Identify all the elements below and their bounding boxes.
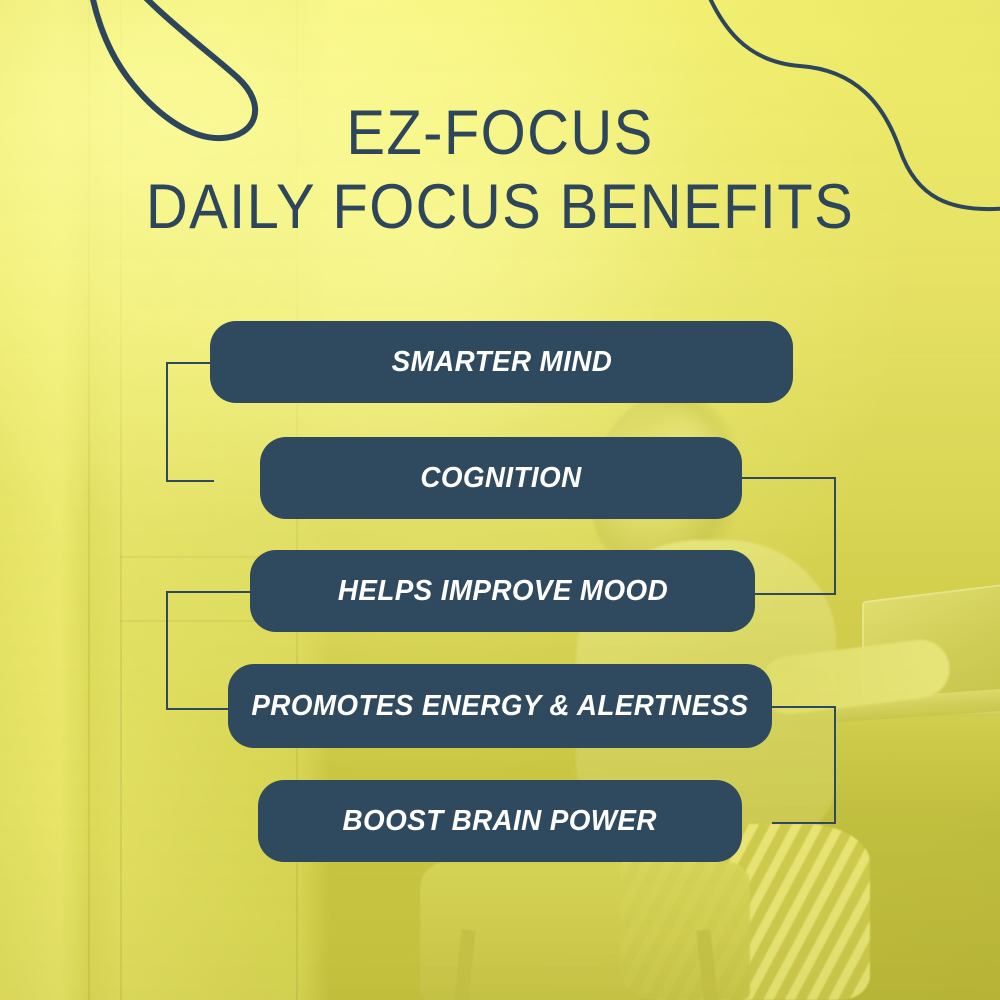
headline: DAILY FOCUS BENEFITS	[40, 170, 960, 244]
benefit-label: HELPS IMPROVE MOOD	[337, 575, 667, 608]
benefit-label: SMARTER MIND	[391, 346, 612, 379]
benefit-pill-3[interactable]: HELPS IMPROVE MOOD	[250, 550, 755, 632]
benefit-pill-1[interactable]: SMARTER MIND	[210, 321, 793, 403]
connector-bracket-right-lower	[772, 706, 836, 824]
benefit-label: BOOST BRAIN POWER	[343, 805, 657, 838]
connector-bracket-left-upper	[166, 362, 214, 482]
benefit-label: PROMOTES ENERGY & ALERTNESS	[251, 690, 748, 723]
connector-bracket-right-upper	[742, 477, 836, 595]
poster-title: EZ-FOCUS DAILY FOCUS BENEFITS	[0, 96, 1000, 244]
benefit-pill-2[interactable]: COGNITION	[260, 437, 742, 519]
benefit-pill-4[interactable]: PROMOTES ENERGY & ALERTNESS	[228, 664, 772, 748]
poster-canvas: EZ-FOCUS DAILY FOCUS BENEFITS SMARTER MI…	[0, 0, 1000, 1000]
benefit-label: COGNITION	[420, 462, 581, 495]
benefit-pill-5[interactable]: BOOST BRAIN POWER	[258, 780, 742, 862]
brand-name: EZ-FOCUS	[40, 96, 960, 170]
